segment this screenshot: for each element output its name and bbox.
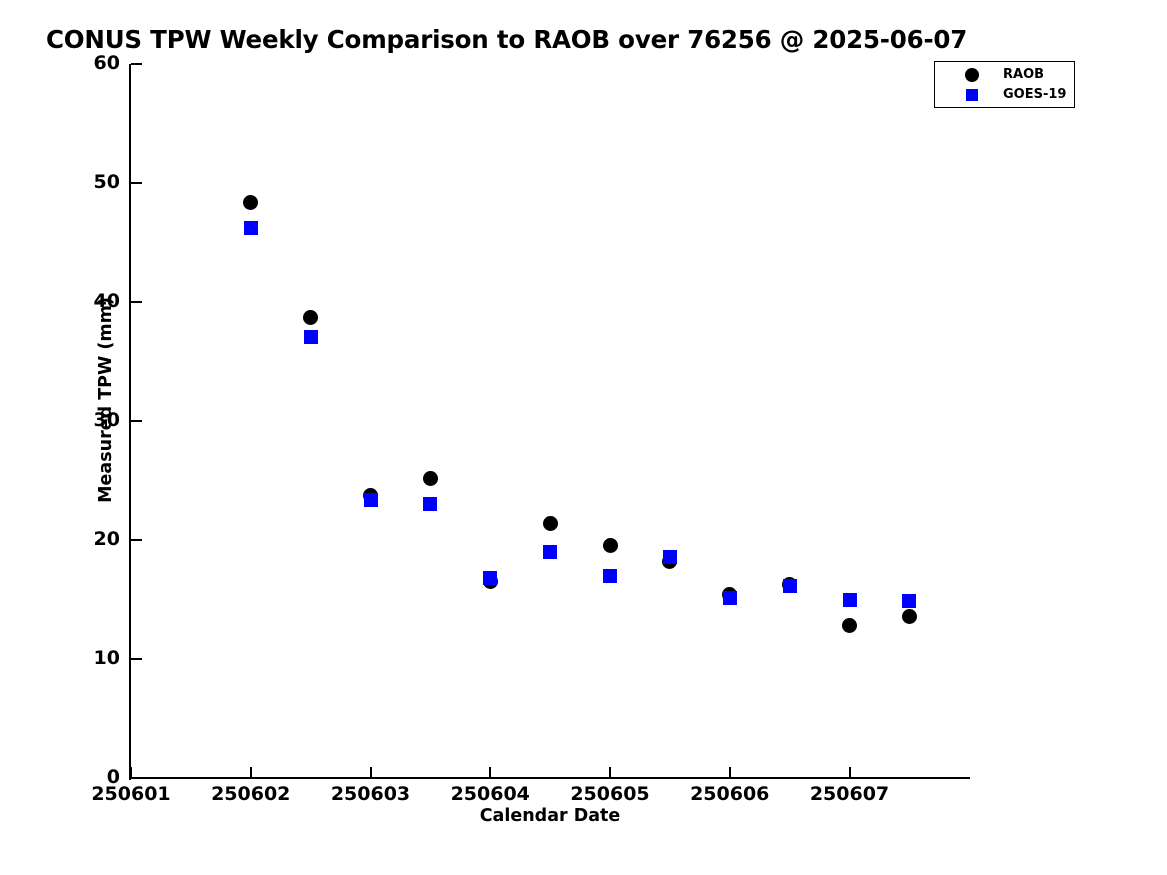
data-point-goes19 — [304, 330, 318, 344]
y-axis-tick-label: 60 — [40, 52, 120, 74]
legend-entry-goes19: GOES-19 — [935, 84, 1074, 105]
legend-label-raob: RAOB — [1003, 67, 1044, 82]
filled-circle-marker-icon — [957, 64, 987, 85]
x-axis-label: Calendar Date — [0, 806, 1100, 826]
data-point-raob — [543, 516, 558, 531]
y-axis-tick-label: 20 — [40, 528, 120, 550]
data-point-raob — [603, 538, 618, 553]
legend-entry-raob: RAOB — [935, 64, 1074, 85]
page-title: CONUS TPW Weekly Comparison to RAOB over… — [46, 25, 967, 54]
data-point-goes19 — [543, 545, 557, 559]
data-point-raob — [902, 609, 917, 624]
data-point-goes19 — [783, 579, 797, 593]
y-axis-tick-label: 10 — [40, 647, 120, 669]
data-point-goes19 — [423, 497, 437, 511]
data-point-goes19 — [244, 221, 258, 235]
data-point-goes19 — [364, 493, 378, 507]
data-point-goes19 — [663, 550, 677, 564]
y-axis-tick-label: 50 — [40, 171, 120, 193]
data-point-raob — [303, 310, 318, 325]
chart-figure: CONUS TPW Weekly Comparison to RAOB over… — [0, 0, 1167, 875]
data-point-goes19 — [843, 593, 857, 607]
chart-legend: RAOB GOES-19 — [934, 61, 1075, 108]
data-point-raob — [423, 471, 438, 486]
legend-label-goes19: GOES-19 — [1003, 87, 1066, 102]
filled-square-marker-icon — [957, 84, 987, 105]
data-point-goes19 — [603, 569, 617, 583]
y-axis-label: Measured TPW (mm) — [96, 270, 116, 530]
data-point-goes19 — [483, 571, 497, 585]
plot-area — [131, 64, 970, 778]
data-point-goes19 — [902, 594, 916, 608]
data-point-raob — [243, 195, 258, 210]
x-axis-tick-label: 250607 — [780, 783, 920, 805]
data-point-goes19 — [723, 591, 737, 605]
